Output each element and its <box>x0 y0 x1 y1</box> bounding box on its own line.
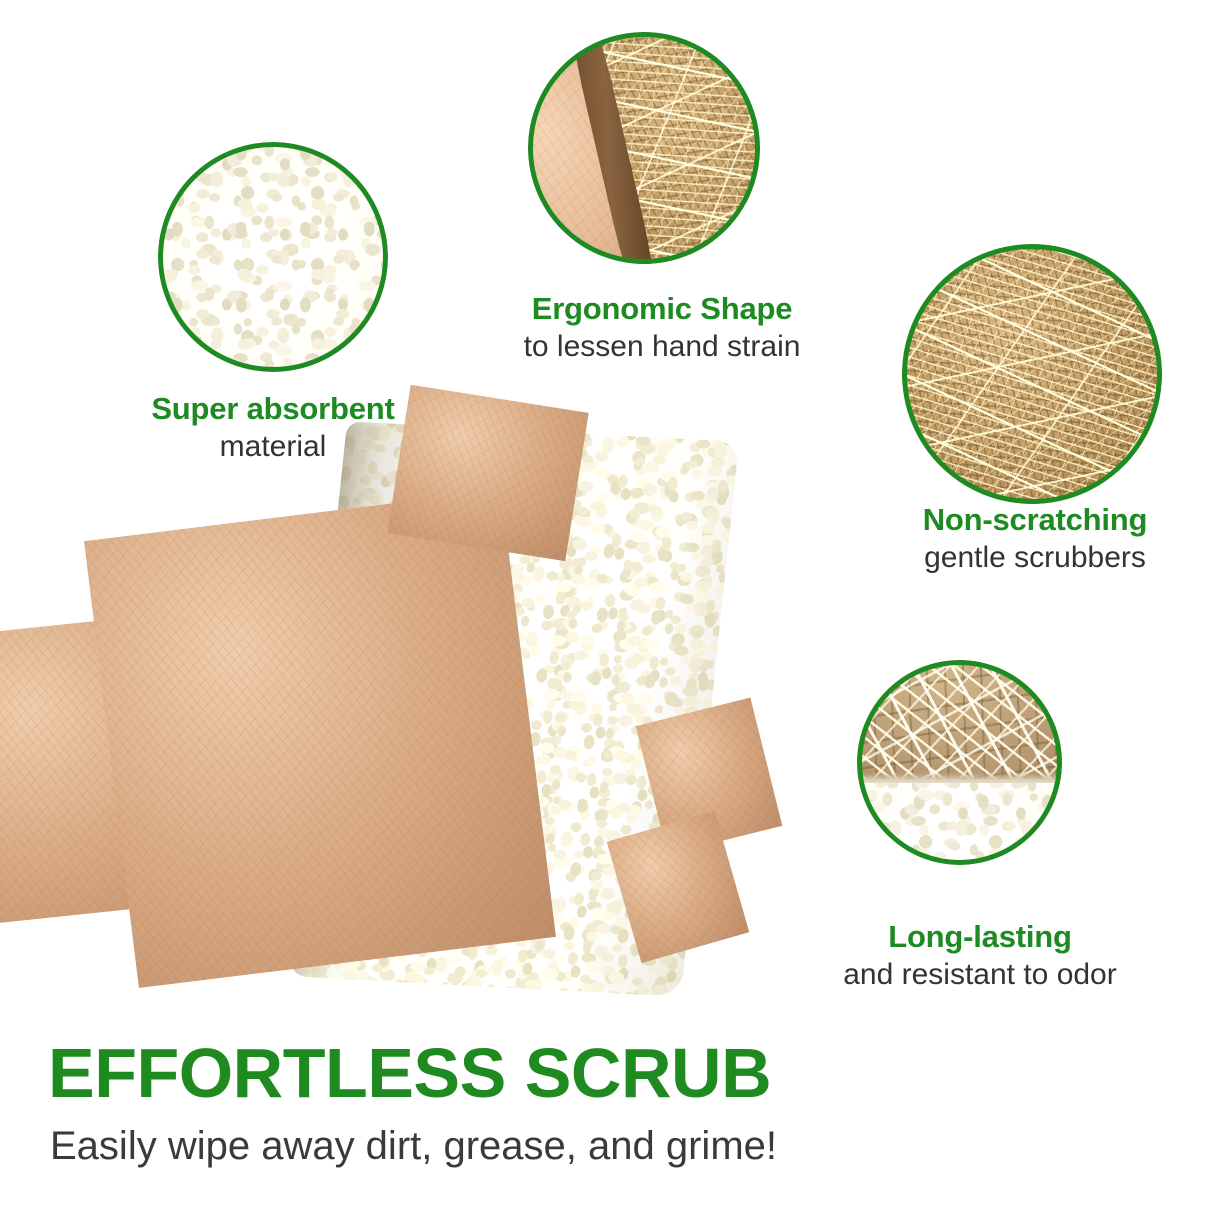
coir-fibre-texture <box>902 244 1162 504</box>
skin-texture <box>84 490 556 988</box>
sponge-layer <box>857 783 1062 865</box>
sponge-pore-texture <box>857 783 1062 865</box>
hero-palm <box>84 490 556 988</box>
feature-subtitle: to lessen hand strain <box>472 331 852 363</box>
feature-image-non-scratching <box>902 244 1162 504</box>
page-title: EFFORTLESS SCRUB <box>48 1038 1048 1108</box>
hero-bottom-mask <box>0 998 772 1012</box>
page-subtitle: Easily wipe away dirt, grease, and grime… <box>50 1122 1048 1170</box>
infographic-canvas: Super absorbent material Ergonomic Shape… <box>0 0 1214 1214</box>
sponge-pore-texture <box>158 142 388 372</box>
hero-product-photo <box>0 392 772 1006</box>
feature-label-super-absorbent: Super absorbent material <box>113 392 433 464</box>
feature-title: Ergonomic Shape <box>472 292 852 325</box>
feature-title: Long-lasting <box>790 920 1170 953</box>
feature-subtitle: gentle scrubbers <box>875 542 1195 574</box>
hand-grip-photo <box>528 32 760 264</box>
loofah-fibre-texture <box>857 660 1062 779</box>
feature-label-ergonomic-shape: Ergonomic Shape to lessen hand strain <box>472 292 852 364</box>
loofah-sponge-layers-photo <box>857 660 1062 865</box>
feature-image-ergonomic-shape <box>528 32 760 264</box>
footer-headline-block: EFFORTLESS SCRUB Easily wipe away dirt, … <box>48 1038 1048 1170</box>
sponge-closeup-photo <box>158 142 388 372</box>
feature-title: Non-scratching <box>875 503 1195 536</box>
feature-title: Super absorbent <box>113 392 433 425</box>
feature-label-non-scratching: Non-scratching gentle scrubbers <box>875 503 1195 575</box>
feature-image-super-absorbent <box>158 142 388 372</box>
feature-image-long-lasting <box>857 660 1062 865</box>
feature-label-long-lasting: Long-lasting and resistant to odor <box>790 920 1170 992</box>
loofah-layer <box>857 660 1062 779</box>
feature-subtitle: and resistant to odor <box>790 959 1170 991</box>
coir-pad-photo <box>902 244 1162 504</box>
feature-subtitle: material <box>113 431 433 463</box>
